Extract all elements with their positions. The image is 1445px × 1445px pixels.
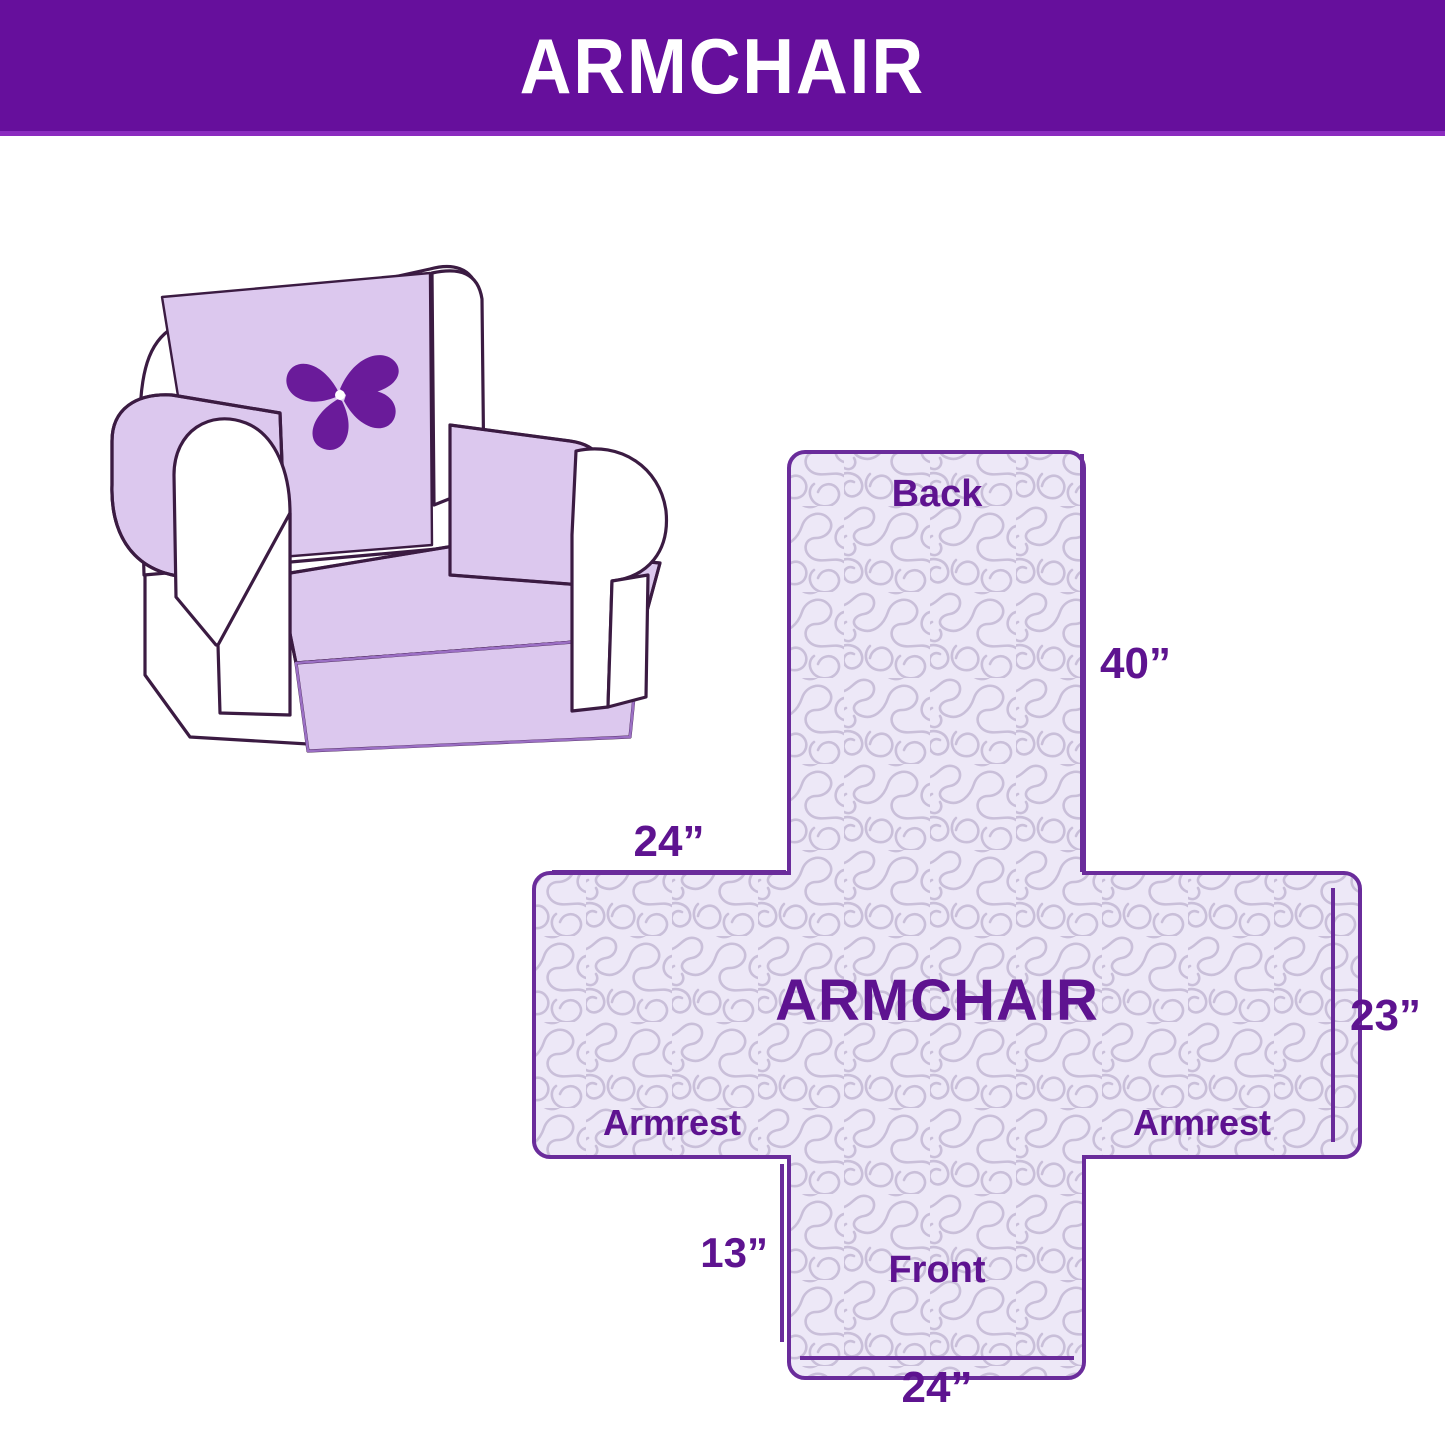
panel-label-back: Back [892, 473, 984, 515]
dimension-value-24-bottom: 24” [902, 1363, 973, 1410]
cross-shape [534, 452, 1360, 1378]
dimension-value-24-top: 24” [634, 817, 705, 866]
panel-label-front: Front [888, 1249, 985, 1291]
dimension-front-drop: 13” [700, 1164, 782, 1342]
dimension-back-height: 40” [1082, 454, 1171, 872]
page-title: ARMCHAIR [520, 27, 925, 105]
banner-underline-divider [0, 131, 1445, 136]
slipcover-layout-diagram: Back ARMCHAIR Armrest Armrest Front 40” … [500, 420, 1445, 1410]
cross-shape-fill [534, 452, 1360, 1378]
panel-label-armrest-right: Armrest [1133, 1102, 1271, 1143]
dimension-value-13: 13” [700, 1229, 768, 1276]
product-dimension-diagram-page: ARMCHAIR [0, 0, 1445, 1445]
dimension-back-width: 24” [552, 817, 786, 872]
page-header-banner: ARMCHAIR [0, 0, 1445, 131]
dimension-value-23: 23” [1350, 991, 1421, 1040]
panel-label-armchair: ARMCHAIR [775, 968, 1099, 1033]
panel-label-armrest-left: Armrest [603, 1102, 741, 1143]
dimension-value-40: 40” [1100, 639, 1171, 688]
